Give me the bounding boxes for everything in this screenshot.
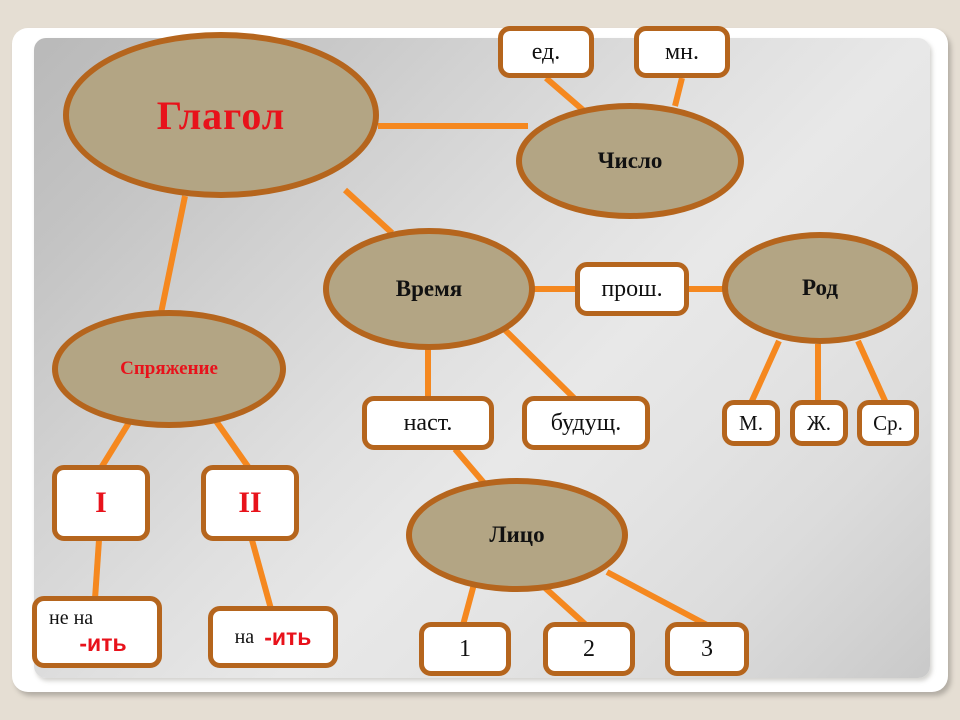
leaf-mn[interactable]: мн.: [634, 26, 730, 78]
leaf-prosh-label: прош.: [601, 276, 662, 303]
leaf-nast-label: наст.: [404, 410, 453, 437]
rule-first-prefix: не на: [49, 607, 93, 630]
node-glagol[interactable]: Глагол: [63, 32, 379, 198]
rule-second-suffix: -ить: [264, 624, 311, 651]
node-spryazhenie[interactable]: Спряжение: [52, 310, 286, 428]
rule-second-prefix: на: [235, 626, 255, 649]
leaf-masculine-label: М.: [739, 411, 763, 436]
node-chislo-label: Число: [598, 148, 663, 174]
leaf-conjugation-1[interactable]: I: [52, 465, 150, 541]
leaf-neuter-label: Ср.: [873, 411, 903, 436]
node-litso[interactable]: Лицо: [406, 478, 628, 592]
node-chislo[interactable]: Число: [516, 103, 744, 219]
leaf-neuter[interactable]: Ср.: [857, 400, 919, 446]
leaf-budush-label: будущ.: [551, 410, 621, 437]
node-litso-label: Лицо: [489, 522, 544, 548]
node-rod[interactable]: Род: [722, 232, 918, 344]
leaf-masculine[interactable]: М.: [722, 400, 780, 446]
leaf-conjugation-2[interactable]: II: [201, 465, 299, 541]
leaf-mn-label: мн.: [665, 39, 699, 66]
rule-first-suffix: -ить: [79, 630, 126, 657]
leaf-conjugation-1-label: I: [95, 486, 107, 520]
leaf-person-2-label: 2: [583, 636, 595, 663]
leaf-nast[interactable]: наст.: [362, 396, 494, 450]
leaf-ed[interactable]: ед.: [498, 26, 594, 78]
rule-second-conjugation[interactable]: на -ить: [208, 606, 338, 668]
node-rod-label: Род: [802, 275, 838, 301]
leaf-person-1[interactable]: 1: [419, 622, 511, 676]
rule-first-conjugation[interactable]: не на -ить: [32, 596, 162, 668]
leaf-budush[interactable]: будущ.: [522, 396, 650, 450]
slide-canvas: Глагол Число Время Род Спряжение Лицо ед…: [0, 0, 960, 720]
leaf-person-3[interactable]: 3: [665, 622, 749, 676]
leaf-feminine[interactable]: Ж.: [790, 400, 848, 446]
node-glagol-label: Глагол: [157, 92, 285, 139]
leaf-person-3-label: 3: [701, 636, 713, 663]
node-vremya[interactable]: Время: [323, 228, 535, 350]
leaf-person-2[interactable]: 2: [543, 622, 635, 676]
leaf-person-1-label: 1: [459, 636, 471, 663]
leaf-conjugation-2-label: II: [238, 486, 261, 520]
leaf-ed-label: ед.: [532, 39, 561, 66]
node-spryazhenie-label: Спряжение: [120, 358, 218, 380]
node-vremya-label: Время: [396, 276, 462, 302]
leaf-prosh[interactable]: прош.: [575, 262, 689, 316]
leaf-feminine-label: Ж.: [807, 411, 831, 436]
